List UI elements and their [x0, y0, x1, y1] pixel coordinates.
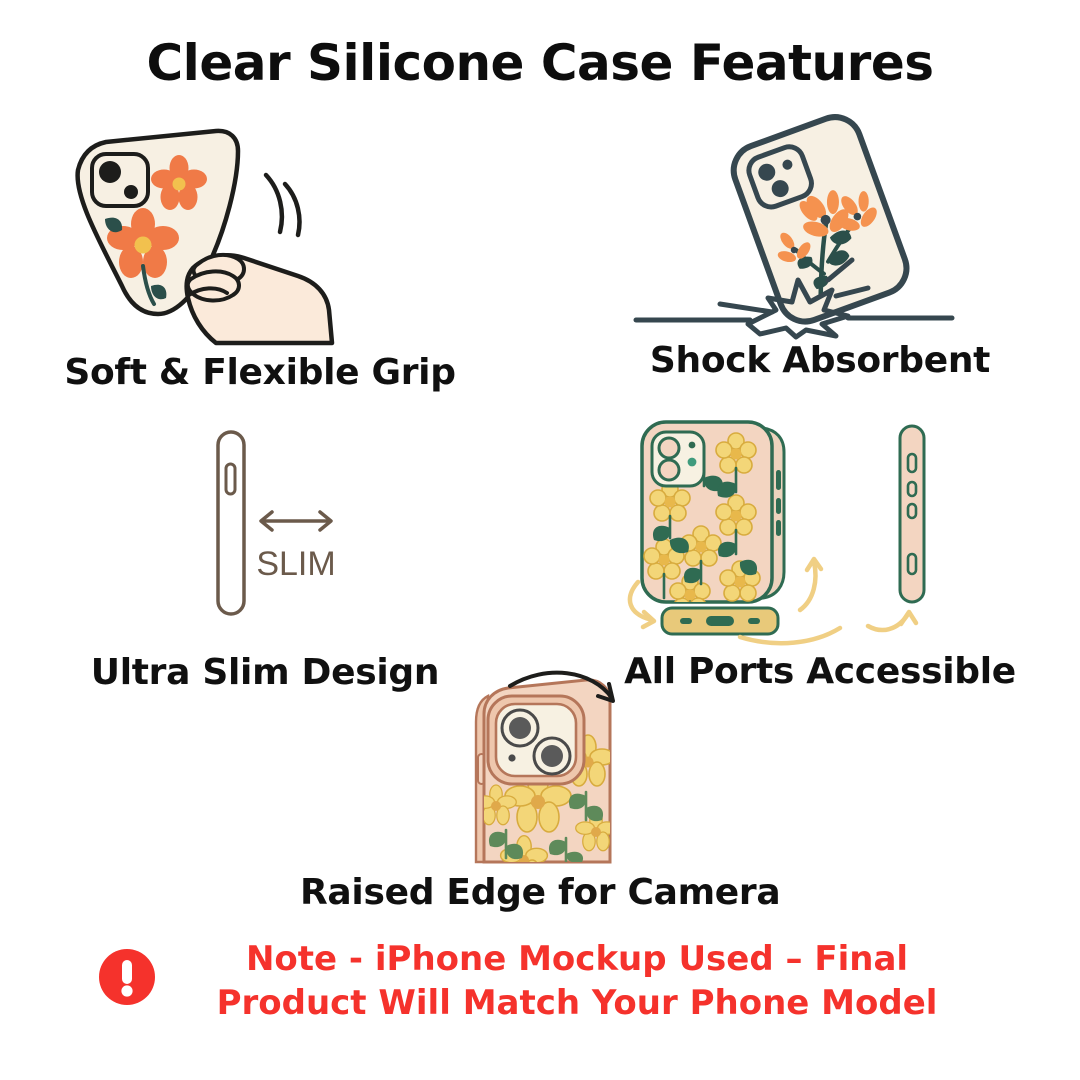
phone-ports-cutouts-icon	[600, 412, 1040, 637]
feature-raised-edge-for-camera: Raised Edge for Camera	[300, 662, 780, 913]
phone-camera-bump-icon	[300, 662, 780, 862]
note-banner: Note - iPhone Mockup Used – Final Produc…	[0, 938, 1080, 1025]
exclamation-circle-icon	[98, 948, 156, 1006]
feature-label: Shock Absorbent	[600, 340, 1040, 381]
slim-annotation-text: SLIM	[256, 545, 335, 583]
phone-side-profile-icon: SLIM	[40, 420, 490, 630]
hand-holding-flexing-phone-icon	[30, 118, 490, 338]
feature-all-ports-accessible: All Ports Accessible	[600, 412, 1040, 692]
phone-drop-impact-icon	[600, 112, 1040, 332]
feature-label: Raised Edge for Camera	[300, 872, 780, 913]
note-text: Note - iPhone Mockup Used – Final Produc…	[172, 938, 982, 1025]
page-title: Clear Silicone Case Features	[0, 34, 1080, 92]
feature-label: Soft & Flexible Grip	[30, 352, 490, 393]
feature-shock-absorbent: Shock Absorbent	[600, 112, 1040, 381]
feature-ultra-slim-design: SLIM Ultra Slim Design	[40, 420, 490, 693]
feature-soft-flexible-grip: Soft & Flexible Grip	[30, 118, 490, 393]
infographic-page: Clear Silicone Case Features	[0, 0, 1080, 1080]
